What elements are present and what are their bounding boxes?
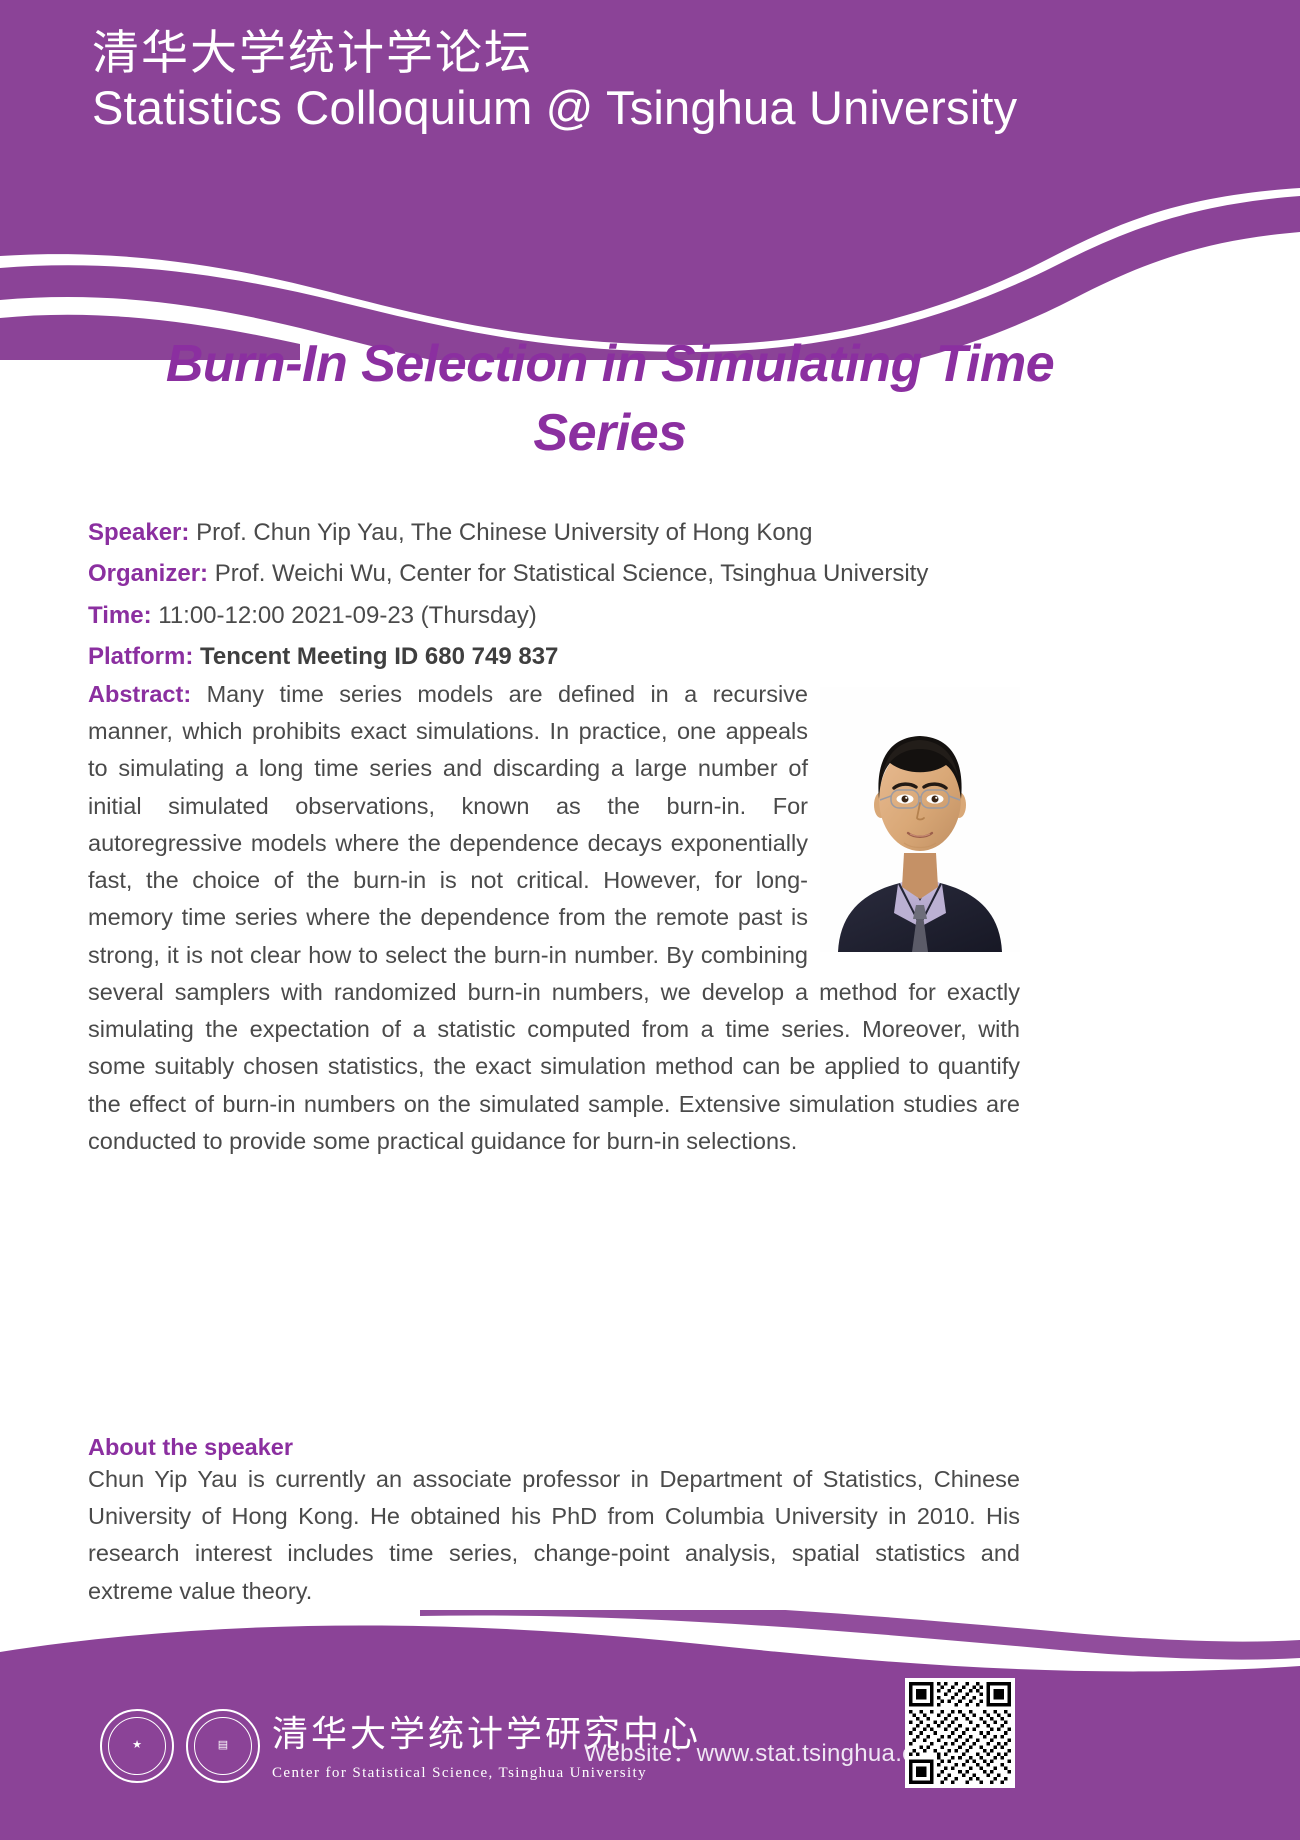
about-speaker-text: Chun Yip Yau is currently an associate p… — [88, 1461, 1020, 1610]
organizer-value: Prof. Weichi Wu, Center for Statistical … — [215, 560, 929, 587]
website-label: Website： — [584, 1740, 697, 1767]
about-speaker-block: About the speaker Chun Yip Yau is curren… — [88, 1420, 1020, 1610]
organizer-label: Organizer: — [88, 560, 208, 587]
footer-content: ★ ▤ 清华大学统计学研究中心 Center for Statistical S… — [0, 1610, 1300, 1840]
abstract-label: Abstract: — [88, 681, 191, 707]
center-for-statistical-science-seal-icon: ▤ — [186, 1709, 260, 1783]
speaker-label: Speaker: — [88, 519, 189, 546]
qr-code[interactable] — [905, 1678, 1015, 1788]
header-title-en: Statistics Colloquium @ Tsinghua Univers… — [92, 83, 1192, 134]
info-row-organizer: Organizer: Prof. Weichi Wu, Center for S… — [88, 553, 1098, 594]
time-label: Time: — [88, 602, 152, 629]
poster-root: 清华大学统计学论坛 Statistics Colloquium @ Tsingh… — [0, 0, 1300, 1840]
seal2-core: ▤ — [218, 1740, 228, 1752]
info-row-time: Time: 11:00-12:00 2021-09-23 (Thursday) — [88, 595, 1098, 636]
info-row-platform: Platform: Tencent Meeting ID 680 749 837 — [88, 636, 1098, 677]
header-title-cn: 清华大学统计学论坛 — [92, 28, 1192, 79]
seal1-core: ★ — [132, 1740, 142, 1752]
platform-label: Platform: — [88, 643, 193, 670]
tsinghua-university-seal-icon: ★ — [100, 1709, 174, 1783]
speaker-photo — [820, 687, 1020, 952]
qr-code-image — [909, 1682, 1011, 1784]
info-row-speaker: Speaker: Prof. Chun Yip Yau, The Chinese… — [88, 512, 1098, 553]
event-info: Speaker: Prof. Chun Yip Yau, The Chinese… — [88, 512, 1098, 677]
about-speaker-heading: About the speaker — [88, 1434, 1020, 1461]
portrait-illustration — [820, 687, 1020, 952]
time-value: 11:00-12:00 2021-09-23 (Thursday) — [158, 602, 536, 629]
header-titles: 清华大学统计学论坛 Statistics Colloquium @ Tsingh… — [92, 28, 1192, 134]
talk-title: Burn-In Selection in Simulating Time Ser… — [110, 330, 1110, 467]
platform-value: Tencent Meeting ID 680 749 837 — [200, 643, 558, 670]
speaker-value: Prof. Chun Yip Yau, The Chinese Universi… — [196, 519, 812, 546]
